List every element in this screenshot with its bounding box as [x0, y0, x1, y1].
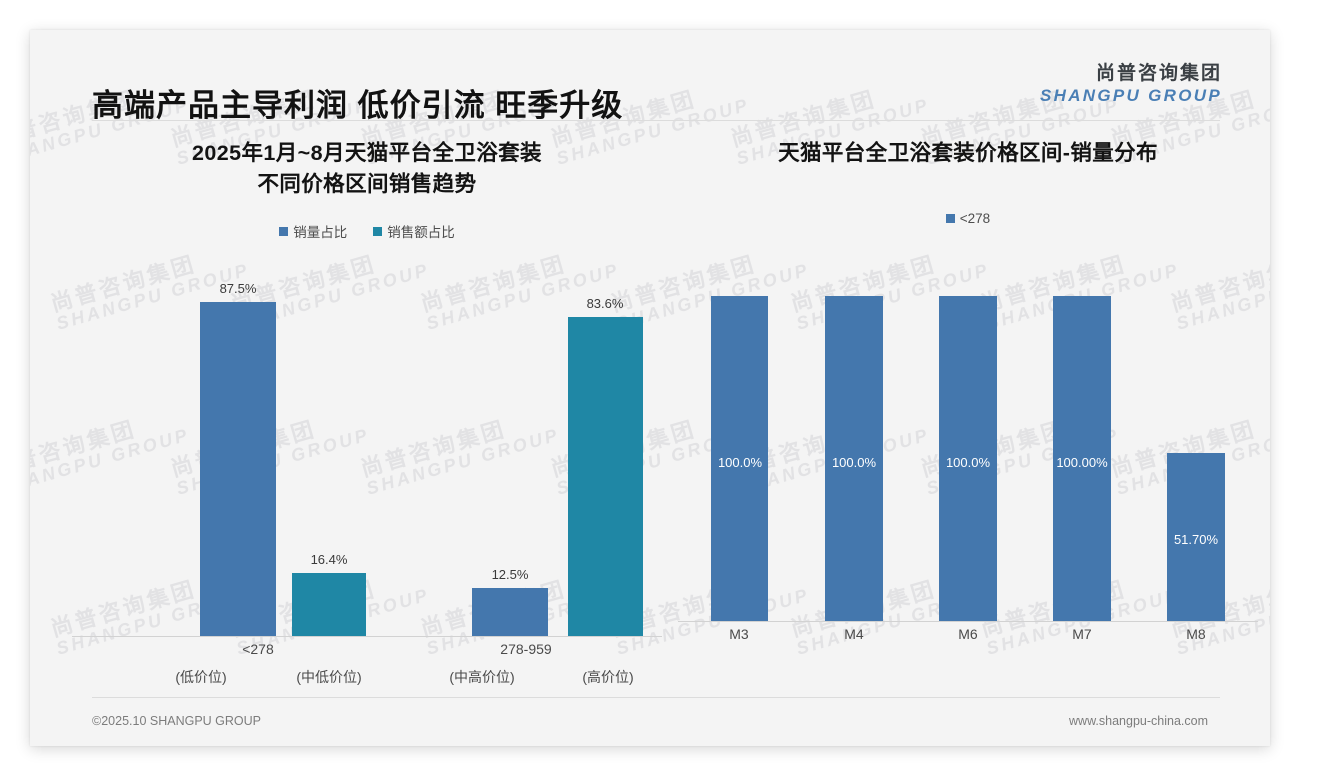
bar-high-price-amount[interactable] [568, 317, 643, 636]
legend-swatch-icon [946, 214, 955, 223]
right-chart-title: 天猫平台全卫浴套装价格区间-销量分布 [678, 138, 1258, 169]
footer-website[interactable]: www.shangpu-china.com [1069, 714, 1208, 728]
x-sublabel-mid-low-price: (中低价位) [249, 667, 409, 687]
legend-item-under-278[interactable]: <278 [946, 211, 990, 226]
left-chart-title-line1: 2025年1月~8月天猫平台全卫浴套装 [72, 138, 662, 169]
bar-label-low-price-volume: 87.5% [178, 281, 298, 296]
x-tick-label-278-959: 278-959 [446, 641, 606, 657]
logo-chinese-text: 尚普咨询集团 [1040, 62, 1222, 86]
right-chart-x-axis: M3 M4 M6 M7 M8 [678, 622, 1258, 686]
bar-low-price-volume[interactable] [200, 302, 276, 636]
legend-swatch-icon [373, 227, 382, 236]
left-chart-panel: 2025年1月~8月天猫平台全卫浴套装 不同价格区间销售趋势 销量占比 销售额占… [72, 138, 662, 698]
x-tick-label-under-278: <278 [178, 641, 338, 657]
brand-logo: 尚普咨询集团 SHANGPU GROUP [1040, 62, 1222, 106]
bar-label-m3: 100.0% [680, 455, 800, 470]
bar-high-price-volume[interactable] [472, 588, 548, 636]
right-chart-plot-area: 100.0% 100.0% 100.0% 100.00% 51.70% [678, 248, 1258, 622]
legend-item-sales-amount[interactable]: 销售额占比 [373, 221, 455, 241]
bar-label-m7: 100.00% [1022, 455, 1142, 470]
slide-card: 尚普咨询集团SHANGPU GROUP尚普咨询集团SHANGPU GROUP尚普… [30, 30, 1270, 746]
left-chart-title: 2025年1月~8月天猫平台全卫浴套装 不同价格区间销售趋势 [72, 138, 662, 199]
bar-label-m8: 51.70% [1136, 532, 1256, 547]
legend-label: 销售额占比 [387, 221, 455, 241]
bar-label-m4: 100.0% [794, 455, 914, 470]
left-chart-plot-area: 87.5% 16.4% 12.5% 83.6% [72, 257, 662, 637]
legend-swatch-icon [279, 227, 288, 236]
right-chart-legend: <278 [678, 211, 1258, 226]
left-chart-legend: 销量占比 销售额占比 [72, 221, 662, 241]
left-chart-title-line2: 不同价格区间销售趋势 [72, 169, 662, 200]
bar-label-low-price-amount: 16.4% [269, 552, 389, 567]
left-chart-x-axis: <278 278-959 (低价位) (中低价位) (中高价位) (高价位) [72, 637, 662, 701]
footer-divider [92, 697, 1220, 698]
right-chart-panel: 天猫平台全卫浴套装价格区间-销量分布 <278 100.0% 100.0% 10… [678, 138, 1258, 698]
bar-label-high-price-volume: 12.5% [450, 567, 570, 582]
page-title: 高端产品主导利润 低价引流 旺季升级 [92, 80, 623, 125]
legend-item-sales-volume[interactable]: 销量占比 [279, 221, 347, 241]
legend-label: 销量占比 [293, 221, 347, 241]
bar-low-price-amount[interactable] [292, 573, 366, 636]
x-tick-label-m8: M8 [1116, 626, 1270, 642]
x-sublabel-high-price: (高价位) [528, 667, 688, 687]
footer-copyright: ©2025.10 SHANGPU GROUP [92, 714, 261, 728]
slide-header: 高端产品主导利润 低价引流 旺季升级 尚普咨询集团 SHANGPU GROUP [30, 30, 1270, 122]
bar-label-m6: 100.0% [908, 455, 1028, 470]
logo-english-text: SHANGPU GROUP [1040, 86, 1222, 106]
bar-label-high-price-amount: 83.6% [545, 296, 665, 311]
slide-footer: ©2025.10 SHANGPU GROUP www.shangpu-china… [92, 714, 1208, 728]
header-divider [92, 120, 1220, 121]
legend-label: <278 [960, 211, 990, 226]
